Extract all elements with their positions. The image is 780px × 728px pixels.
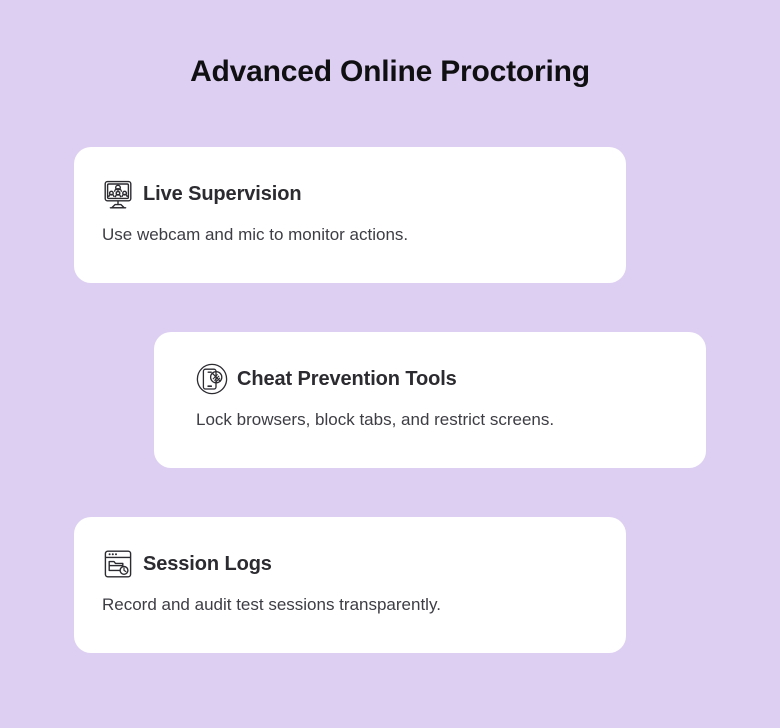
card-title: Session Logs: [143, 553, 272, 576]
card-content: Live Supervision Use webcam and mic to m…: [102, 176, 606, 247]
card-content: Cheat Prevention Tools Lock browsers, bl…: [196, 361, 686, 432]
card-header: Session Logs: [102, 546, 606, 582]
card-header: Live Supervision: [102, 176, 606, 212]
page-title: Advanced Online Proctoring: [0, 52, 780, 92]
browser-folder-clock-icon: [102, 548, 134, 580]
feature-card-session-logs[interactable]: Session Logs Record and audit test sessi…: [74, 517, 626, 653]
card-content: Session Logs Record and audit test sessi…: [102, 546, 606, 617]
no-phone-prohibited-icon: [196, 363, 228, 395]
card-header: Cheat Prevention Tools: [196, 361, 686, 397]
card-title: Live Supervision: [143, 183, 301, 206]
card-title: Cheat Prevention Tools: [237, 368, 457, 391]
card-description: Lock browsers, block tabs, and restrict …: [196, 408, 686, 432]
card-description: Record and audit test sessions transpare…: [102, 593, 606, 617]
feature-card-cheat-prevention-tools[interactable]: Cheat Prevention Tools Lock browsers, bl…: [154, 332, 706, 468]
feature-card-live-supervision[interactable]: Live Supervision Use webcam and mic to m…: [74, 147, 626, 283]
video-supervision-monitor-icon: [102, 178, 134, 210]
card-description: Use webcam and mic to monitor actions.: [102, 223, 606, 247]
